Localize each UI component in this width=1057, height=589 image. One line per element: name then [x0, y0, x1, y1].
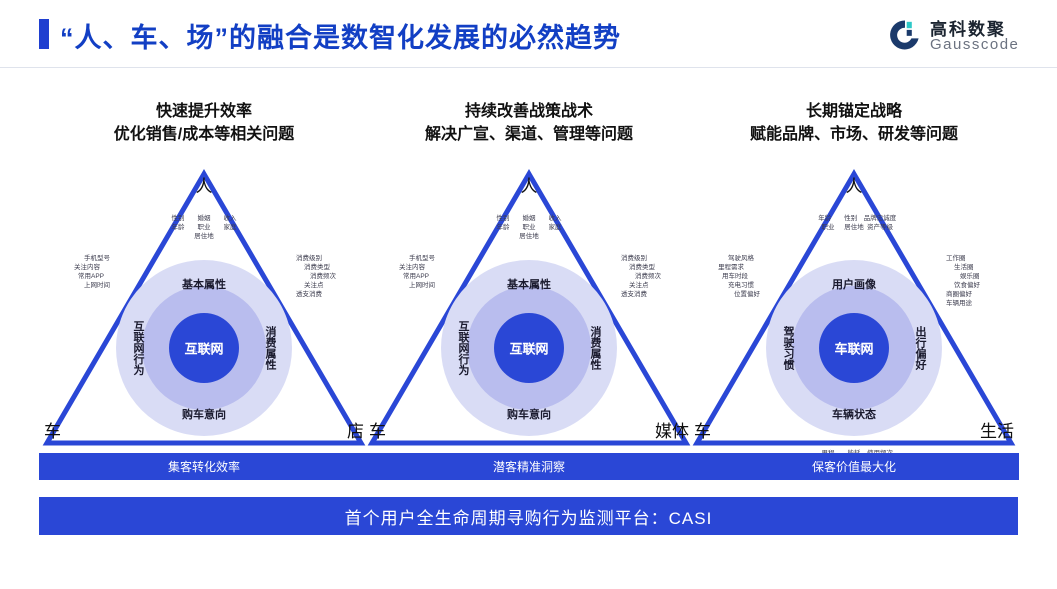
satellite-right-2: 消费级别消费类型消费频次关注点透支消费 [621, 254, 661, 299]
satellite-top-3: 年龄性别品牌忠诚度职业居住地资产等级 [812, 214, 897, 232]
satellite-item: 性别 [165, 214, 191, 223]
satellite-row: 性别婚姻收入 [490, 214, 568, 223]
satellite-item: 关注内容 [399, 263, 435, 272]
slide-root: “人、车、场”的融合是数智化发展的必然趋势 高科数聚 Gausscode 快速提… [0, 0, 1057, 589]
triangle-block-3: 人 车 生活 车联网 车联网 用户画像 车辆状态 驾驶习惯 出行偏好 年龄性别品… [689, 160, 1019, 450]
satellite-item: 充电习惯 [728, 281, 760, 290]
vertex-bottom-left-1: 车 [44, 417, 61, 442]
logo-name-en: Gausscode [930, 36, 1019, 53]
satellite-item: 居住地 [516, 232, 542, 241]
satellite-item: 关注点 [629, 281, 661, 290]
ring-label-bottom-2: 购车意向 [507, 406, 551, 422]
satellite-item: 职业 [516, 223, 542, 232]
satellite-item: 居住地 [841, 223, 867, 232]
triangle-block-2: 人 车 媒体 互联网 互联网 基本属性 购车意向 互联网行为 消费属性 性别婚姻… [364, 160, 694, 450]
ring-label-left-1: 互联网行为 [130, 321, 146, 376]
ring-diagram-2: 互联网 互联网 基本属性 购车意向 互联网行为 消费属性 性别婚姻收入年龄职业家… [441, 260, 617, 436]
vertex-top-2: 人 [521, 172, 538, 197]
column-caption-2: 持续改善战策战术 解决广宣、渠道、管理等问题 [364, 100, 694, 146]
satellite-item: 娱乐圈 [960, 272, 980, 281]
satellite-item: 位置偏好 [734, 290, 760, 299]
vertex-bottom-right-3: 生活 [980, 417, 1014, 442]
satellite-item: 里程需求 [718, 263, 760, 272]
satellite-row: 年龄职业家庭 [490, 223, 568, 232]
satellite-item: 常用APP [78, 272, 110, 281]
ring-label-right-2: 消费属性 [587, 326, 603, 370]
satellite-item: 资产等级 [867, 223, 893, 232]
satellite-item: 家庭 [217, 223, 243, 232]
vertex-bottom-right-1: 店 [347, 417, 364, 442]
satellite-item: 生活圈 [954, 263, 980, 272]
satellite-item: 透支消费 [621, 290, 661, 299]
satellite-item: 婚姻 [191, 214, 217, 223]
vertex-bottom-left-2: 车 [369, 417, 386, 442]
ring-center-label-2: 互联网 [509, 339, 548, 358]
satellite-item: 车辆用途 [946, 299, 980, 308]
satellite-item: 工作圈 [946, 254, 980, 263]
satellite-item: 职业 [191, 223, 217, 232]
satellite-row: 年龄性别品牌忠诚度 [812, 214, 897, 223]
ring-center-label-1: 互联网 [184, 339, 223, 358]
satellite-item: 饮食偏好 [954, 281, 980, 290]
satellite-item: 手机型号 [84, 254, 110, 263]
column-bar-2[interactable]: 潜客精准洞察 [364, 453, 694, 480]
ring-label-bottom-1: 购车意向 [182, 406, 226, 422]
satellite-item: 商圈偏好 [946, 290, 980, 299]
satellite-item: 收入 [542, 214, 568, 223]
caption-line1: 持续改善战策战术 [364, 100, 694, 123]
satellite-item: 婚姻 [516, 214, 542, 223]
vertex-top-1: 人 [196, 172, 213, 197]
ring-label-right-3: 出行偏好 [912, 326, 928, 370]
satellite-item: 消费频次 [635, 272, 661, 281]
satellite-right-1: 消费级别消费类型消费频次关注点透支消费 [296, 254, 336, 299]
satellite-item: 消费类型 [304, 263, 336, 272]
vertex-bottom-left-3: 车 [694, 417, 711, 442]
satellite-right-3: 工作圈生活圈娱乐圈饮食偏好商圈偏好车辆用途 [946, 254, 980, 308]
ring-label-bottom-3: 车辆状态 [832, 406, 876, 422]
slide-header: “人、车、场”的融合是数智化发展的必然趋势 高科数聚 Gausscode [0, 0, 1057, 68]
brand-logo: 高科数聚 Gausscode [888, 14, 1033, 58]
satellite-row: 职业居住地资产等级 [812, 223, 897, 232]
caption-line2: 优化销售/成本等相关问题 [39, 123, 369, 146]
satellite-row: 居住地 [165, 232, 243, 241]
satellite-top-1: 性别婚姻收入年龄职业家庭居住地 [165, 214, 243, 241]
ring-label-left-2: 互联网行为 [455, 321, 471, 376]
ring-label-left-3: 驾驶习惯 [780, 326, 796, 370]
satellite-item: 品牌忠诚度 [864, 214, 897, 223]
ring-diagram-1: 互联网 互联网 基本属性 购车意向 互联网行为 消费属性 性别婚姻收入年龄职业家… [116, 260, 292, 436]
ring-label-top-1: 基本属性 [182, 276, 226, 292]
satellite-left-1: 手机型号关注内容常用APP上网时间 [70, 254, 110, 290]
caption-line2: 赋能品牌、市场、研发等问题 [689, 123, 1019, 146]
satellite-row: 年龄职业家庭 [165, 223, 243, 232]
vertex-bottom-right-2: 媒体 [655, 417, 689, 442]
satellite-item: 透支消费 [296, 290, 336, 299]
satellite-row: 性别婚姻收入 [165, 214, 243, 223]
satellite-item: 居住地 [191, 232, 217, 241]
page-title: “人、车、场”的融合是数智化发展的必然趋势 [60, 16, 621, 55]
satellite-item: 用车时段 [722, 272, 760, 281]
footer-platform-bar[interactable]: 首个用户全生命周期寻购行为监测平台：CASI [39, 497, 1018, 535]
caption-line1: 快速提升效率 [39, 100, 369, 123]
triangle-block-1: 人 车 店 互联网 互联网 基本属性 购车意向 互联网行为 消费属性 性别婚姻收… [39, 160, 369, 450]
satellite-item: 驾驶风格 [728, 254, 760, 263]
satellite-left-3: 驾驶风格里程需求用车时段充电习惯位置偏好 [714, 254, 760, 299]
satellite-item: 消费级别 [296, 254, 336, 263]
ring-label-right-1: 消费属性 [262, 326, 278, 370]
satellite-item: 常用APP [403, 272, 435, 281]
ring-label-top-3: 用户画像 [832, 276, 876, 292]
vertex-top-3: 人 [846, 172, 863, 197]
satellite-item: 年龄 [812, 214, 838, 223]
satellite-item: 关注内容 [74, 263, 110, 272]
satellite-item: 上网时间 [409, 281, 435, 290]
satellite-item: 手机型号 [409, 254, 435, 263]
title-accent-bar [39, 19, 49, 49]
column-caption-1: 快速提升效率 优化销售/成本等相关问题 [39, 100, 369, 146]
caption-line2: 解决广宣、渠道、管理等问题 [364, 123, 694, 146]
satellite-item: 性别 [490, 214, 516, 223]
satellite-item: 消费级别 [621, 254, 661, 263]
gausscode-c-mark-icon [888, 18, 922, 52]
satellite-item: 消费频次 [310, 272, 336, 281]
satellite-item: 上网时间 [84, 281, 110, 290]
header-divider [0, 67, 1057, 68]
satellite-item: 收入 [217, 214, 243, 223]
column-bar-1[interactable]: 集客转化效率 [39, 453, 369, 480]
satellite-item: 关注点 [304, 281, 336, 290]
satellite-item: 年龄 [490, 223, 516, 232]
satellite-item: 年龄 [165, 223, 191, 232]
satellite-item: 职业 [815, 223, 841, 232]
column-bar-3[interactable]: 保客价值最大化 [689, 453, 1019, 480]
satellite-row: 居住地 [490, 232, 568, 241]
satellite-top-2: 性别婚姻收入年龄职业家庭居住地 [490, 214, 568, 241]
satellite-left-2: 手机型号关注内容常用APP上网时间 [395, 254, 435, 290]
satellite-item: 家庭 [542, 223, 568, 232]
column-caption-3: 长期锚定战略 赋能品牌、市场、研发等问题 [689, 100, 1019, 146]
ring-center-label-3: 车联网 [834, 339, 873, 358]
satellite-item: 性别 [838, 214, 864, 223]
ring-label-top-2: 基本属性 [507, 276, 551, 292]
caption-line1: 长期锚定战略 [689, 100, 1019, 123]
satellite-item: 消费类型 [629, 263, 661, 272]
ring-diagram-3: 车联网 车联网 用户画像 车辆状态 驾驶习惯 出行偏好 年龄性别品牌忠诚度职业居… [766, 260, 942, 436]
